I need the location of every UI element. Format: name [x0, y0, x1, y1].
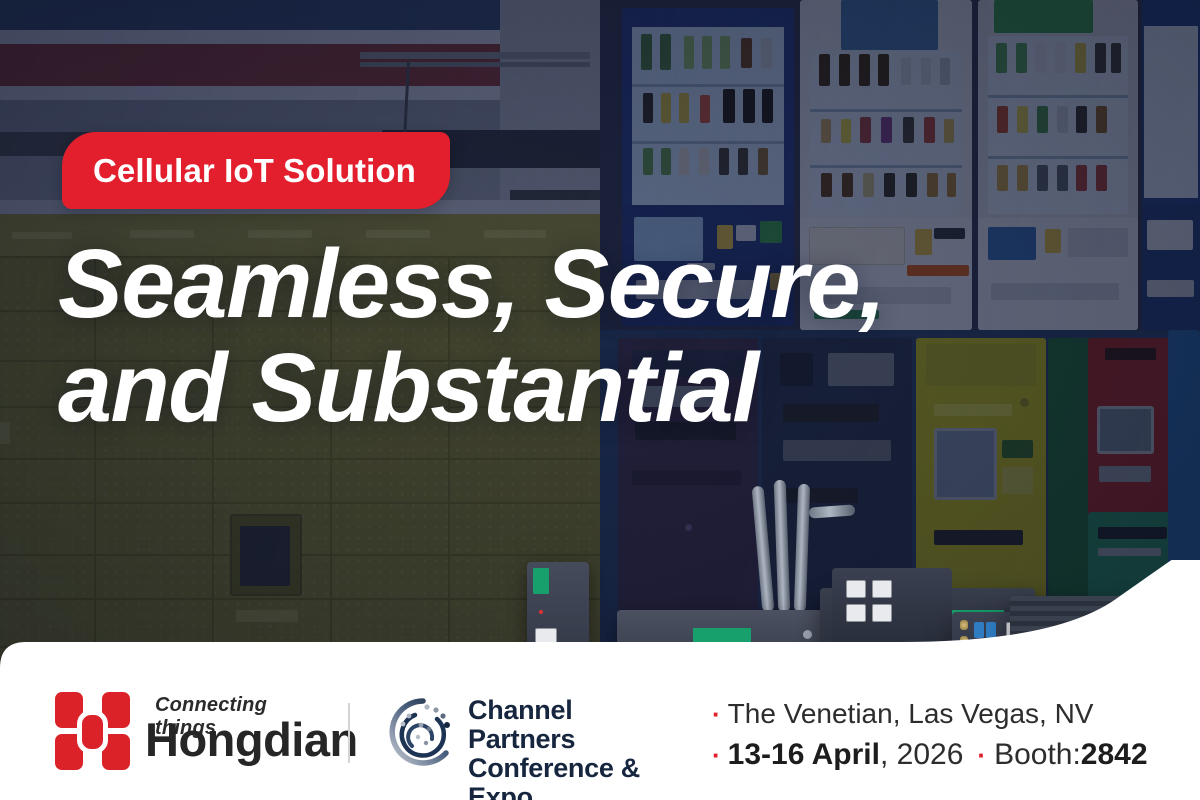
channel-partners-rings-icon — [385, 694, 461, 770]
event-logo: Channel Partners Conference & Expo by in… — [385, 692, 665, 772]
bullet-icon: · — [712, 742, 721, 768]
company-logo: Connecting things Hongdian — [55, 690, 315, 772]
page-title: Seamless, Secure, and Substantial — [58, 232, 1058, 440]
booth-label: Booth: — [994, 734, 1081, 777]
headline-line-1: Seamless, Secure, — [58, 229, 885, 338]
event-dates-line: · 13-16 April , 2026 · Booth: 2842 — [712, 734, 1182, 777]
event-venue-line: · The Venetian, Las Vegas, NV — [712, 694, 1182, 734]
marketing-banner: Cellular IoT Solution Seamless, Secure, … — [0, 0, 1200, 800]
company-name: Hongdian — [145, 716, 358, 763]
booth-number: 2842 — [1081, 734, 1148, 777]
event-venue: The Venetian, Las Vegas, NV — [728, 694, 1094, 734]
event-year: , 2026 — [880, 734, 963, 777]
badge-label: Cellular IoT Solution — [93, 154, 416, 187]
headline-line-2: and Substantial — [58, 336, 1058, 440]
event-details: · The Venetian, Las Vegas, NV · 13-16 Ap… — [712, 694, 1182, 776]
category-badge: Cellular IoT Solution — [62, 132, 450, 209]
event-logo-line-2: Conference & Expo — [468, 754, 665, 800]
bullet-icon: · — [977, 742, 986, 768]
event-dates: 13-16 April — [728, 734, 880, 777]
hongdian-h-blocks-icon — [55, 692, 130, 770]
bullet-icon: · — [712, 701, 721, 727]
hongdian-center-pill — [77, 710, 108, 754]
event-logo-line-1: Channel Partners — [468, 696, 665, 754]
logo-divider — [348, 703, 350, 763]
